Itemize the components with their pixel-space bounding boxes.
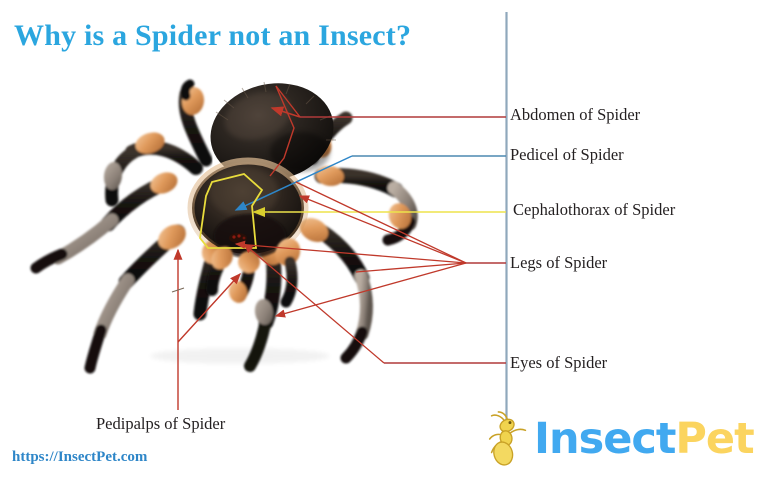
logo-wordmark: InsectPet — [534, 418, 754, 461]
label-abdomen: Abdomen of Spider — [510, 107, 640, 124]
label-eyes: Eyes of Spider — [510, 355, 607, 372]
label-pedipalps: Pedipalps of Spider — [96, 414, 225, 434]
logo-word-insect: Insect — [534, 414, 675, 464]
label-legs: Legs of Spider — [510, 255, 607, 272]
insectpet-logo[interactable]: InsectPet — [480, 408, 754, 470]
diagram-canvas: Why is a Spider not an Insect? Abdomen o… — [0, 0, 768, 477]
label-cephalothorax: Cephalothorax of Spider — [513, 202, 675, 219]
spider-body-group — [36, 72, 415, 368]
eye-cluster — [229, 233, 247, 243]
leg-rear-left-lower — [90, 219, 191, 368]
leg-front-left-raised — [180, 84, 206, 160]
spider-illustration — [0, 0, 768, 477]
logo-word-pet: Pet — [675, 414, 753, 464]
label-pedicel: Pedicel of Spider — [510, 147, 624, 164]
page-title: Why is a Spider not an Insect? — [14, 19, 411, 53]
site-url[interactable]: https://InsectPet.com — [12, 449, 147, 466]
leg-mid-right — [296, 213, 367, 358]
ant-icon — [480, 410, 538, 468]
